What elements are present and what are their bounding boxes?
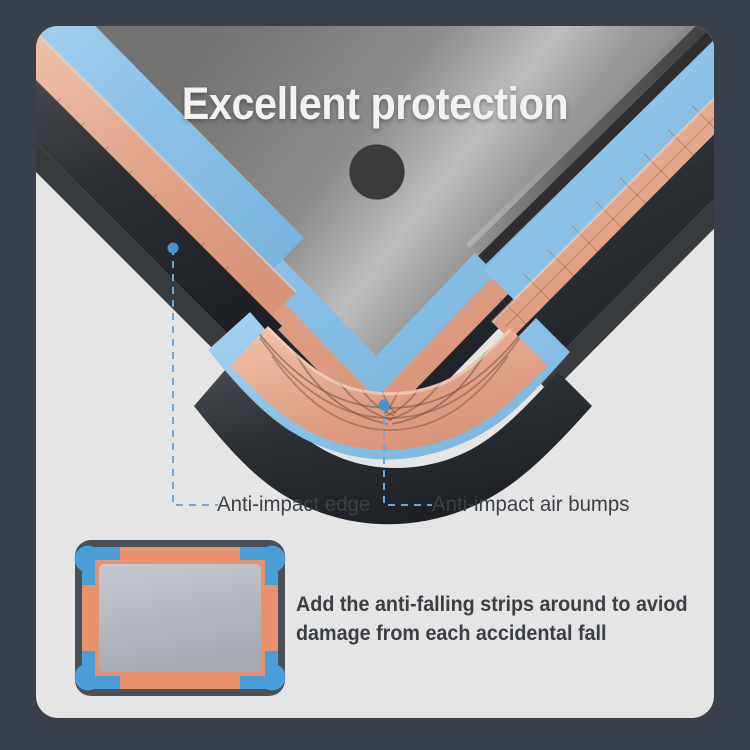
description-line-2: damage from each accidental fall (296, 619, 672, 648)
product-marketing-image: Excellent protection Anti-impact edge An… (0, 0, 750, 750)
description-line-1: Add the anti-falling strips around to av… (296, 590, 672, 619)
content-card: Excellent protection Anti-impact edge An… (36, 26, 714, 718)
callout-label-anti-impact-air-bumps: Anti-impact air bumps (432, 492, 630, 517)
callout-label-anti-impact-edge: Anti-impact edge (217, 492, 370, 517)
callout-dot-left (168, 243, 179, 254)
thumb-screen (99, 564, 261, 672)
anti-falling-strips-diagram (75, 540, 286, 696)
description-text: Add the anti-falling strips around to av… (296, 590, 672, 648)
callout-dot-right (379, 400, 390, 411)
